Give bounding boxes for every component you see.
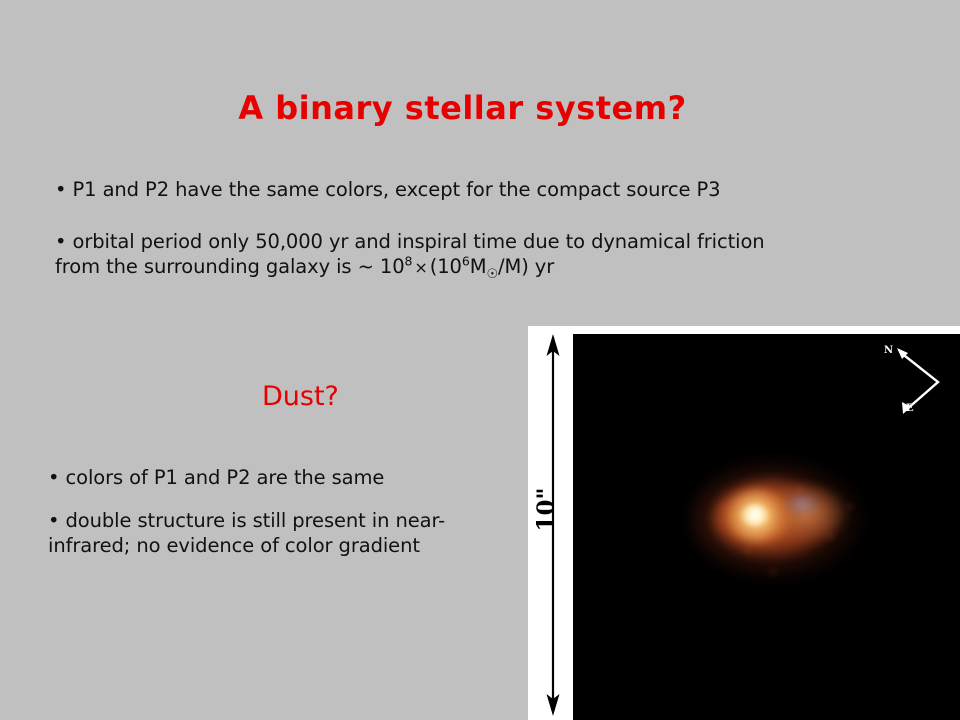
compass-label-north: N (884, 346, 893, 356)
scale-bar: 10" (528, 326, 573, 720)
bullet-item-orbital-period: • orbital period only 50,000 yr and insp… (55, 229, 925, 280)
galaxy-nucleus (741, 504, 769, 526)
formula-suffix: /M) yr (498, 255, 554, 278)
figure-panel: 10" N E (528, 326, 960, 720)
mass-symbol: M (470, 255, 487, 278)
scale-label: 10" (533, 480, 560, 540)
exponent-six: 6 (462, 254, 470, 269)
bullet-item-double-structure: • double structure is still present in n… (48, 508, 518, 558)
sky-image: N E (573, 334, 960, 720)
page-title: A binary stellar system? (0, 89, 925, 127)
bullet-item-colors-same: • colors of P1 and P2 are the same (48, 465, 518, 490)
bullet-orbital-line-1: • orbital period only 50,000 yr and insp… (55, 230, 765, 253)
compass-rose: N E (878, 338, 952, 422)
bullet-orbital-line-2-prefix: from the surrounding galaxy is ~ 10 (55, 255, 405, 278)
slide-canvas: A binary stellar system? • P1 and P2 hav… (0, 0, 960, 720)
formula-open-paren-ten: (10 (430, 255, 462, 278)
compass-label-east: E (906, 404, 914, 414)
multiplication-sign: × (412, 258, 429, 277)
solar-mass-subscript-icon: ☉ (486, 267, 498, 282)
bullet-item-colors-p1-p2-p3: • P1 and P2 have the same colors, except… (55, 177, 915, 202)
section-heading-dust: Dust? (262, 381, 339, 412)
